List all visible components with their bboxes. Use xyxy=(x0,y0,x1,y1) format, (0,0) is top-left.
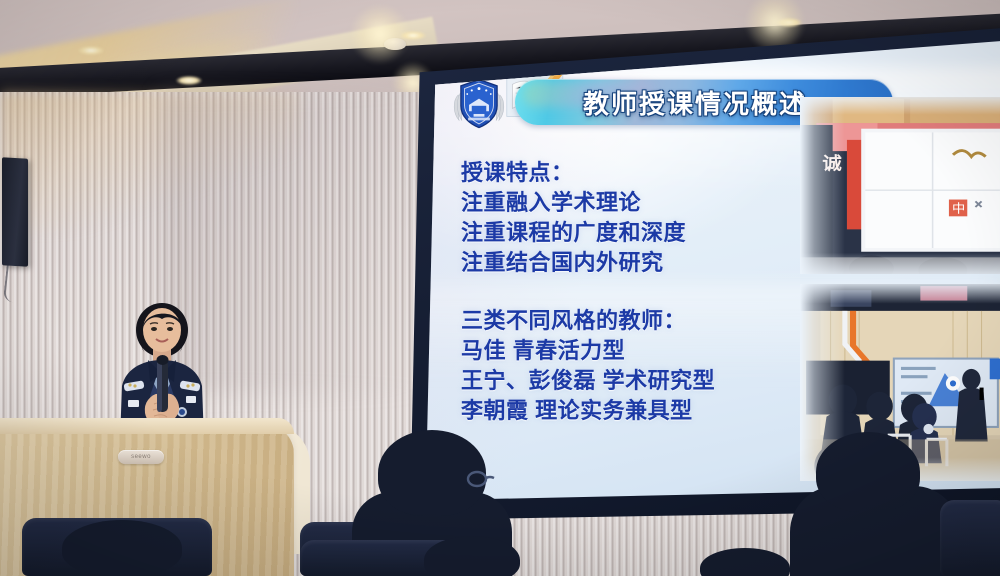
slide-line: 王宁、彭俊磊 学术研究型 xyxy=(461,366,715,396)
podium-top-edge xyxy=(0,418,294,434)
wall-speaker xyxy=(2,157,28,266)
police-emblem-icon xyxy=(450,75,508,133)
lecture-hall-screenshot: 教师授课情况概述 授课特点： 注重融入学术理论 注重课程的广度和深度 注重结合国… xyxy=(0,0,1000,576)
slide-line: 注重结合国内外研究 xyxy=(461,248,686,278)
svg-text:诚: 诚 xyxy=(822,153,842,173)
slide-block-teacher-styles: 三类不同风格的教师： 马佳 青春活力型 王宁、彭俊磊 学术研究型 李朝霞 理论实… xyxy=(461,306,715,426)
downlight-3 xyxy=(176,76,202,85)
audience-head-left xyxy=(62,520,182,576)
slide-line: 马佳 青春活力型 xyxy=(461,336,715,366)
downlight-1 xyxy=(78,46,104,55)
ceiling-glow-1 xyxy=(350,4,410,64)
presentation-slide[interactable]: 教师授课情况概述 授课特点： 注重融入学术理论 注重课程的广度和深度 注重结合国… xyxy=(404,28,1000,520)
inset-photo-classroom: 中 诚 xyxy=(800,97,1000,274)
svg-text:中: 中 xyxy=(952,202,965,215)
slide-line: 李朝霞 理论实务兼具型 xyxy=(461,396,715,426)
slide-line: 授课特点： xyxy=(461,158,686,188)
chair-back-right xyxy=(940,500,1000,576)
slide-title: 教师授课情况概述 xyxy=(583,84,807,121)
eyeglasses-icon xyxy=(466,468,500,490)
slide-line: 注重课程的广度和深度 xyxy=(461,218,686,248)
podium-brand-label: seewo xyxy=(131,454,151,460)
podium-brand-plate: seewo xyxy=(118,450,164,464)
slide-line: 三类不同风格的教师： xyxy=(461,306,715,336)
audience-head-right xyxy=(816,432,920,512)
slide-line: 注重融入学术理论 xyxy=(461,188,686,218)
audience-head-center-front xyxy=(424,536,520,576)
slide-block-teaching-features: 授课特点： 注重融入学术理论 注重课程的广度和深度 注重结合国内外研究 xyxy=(461,158,686,278)
